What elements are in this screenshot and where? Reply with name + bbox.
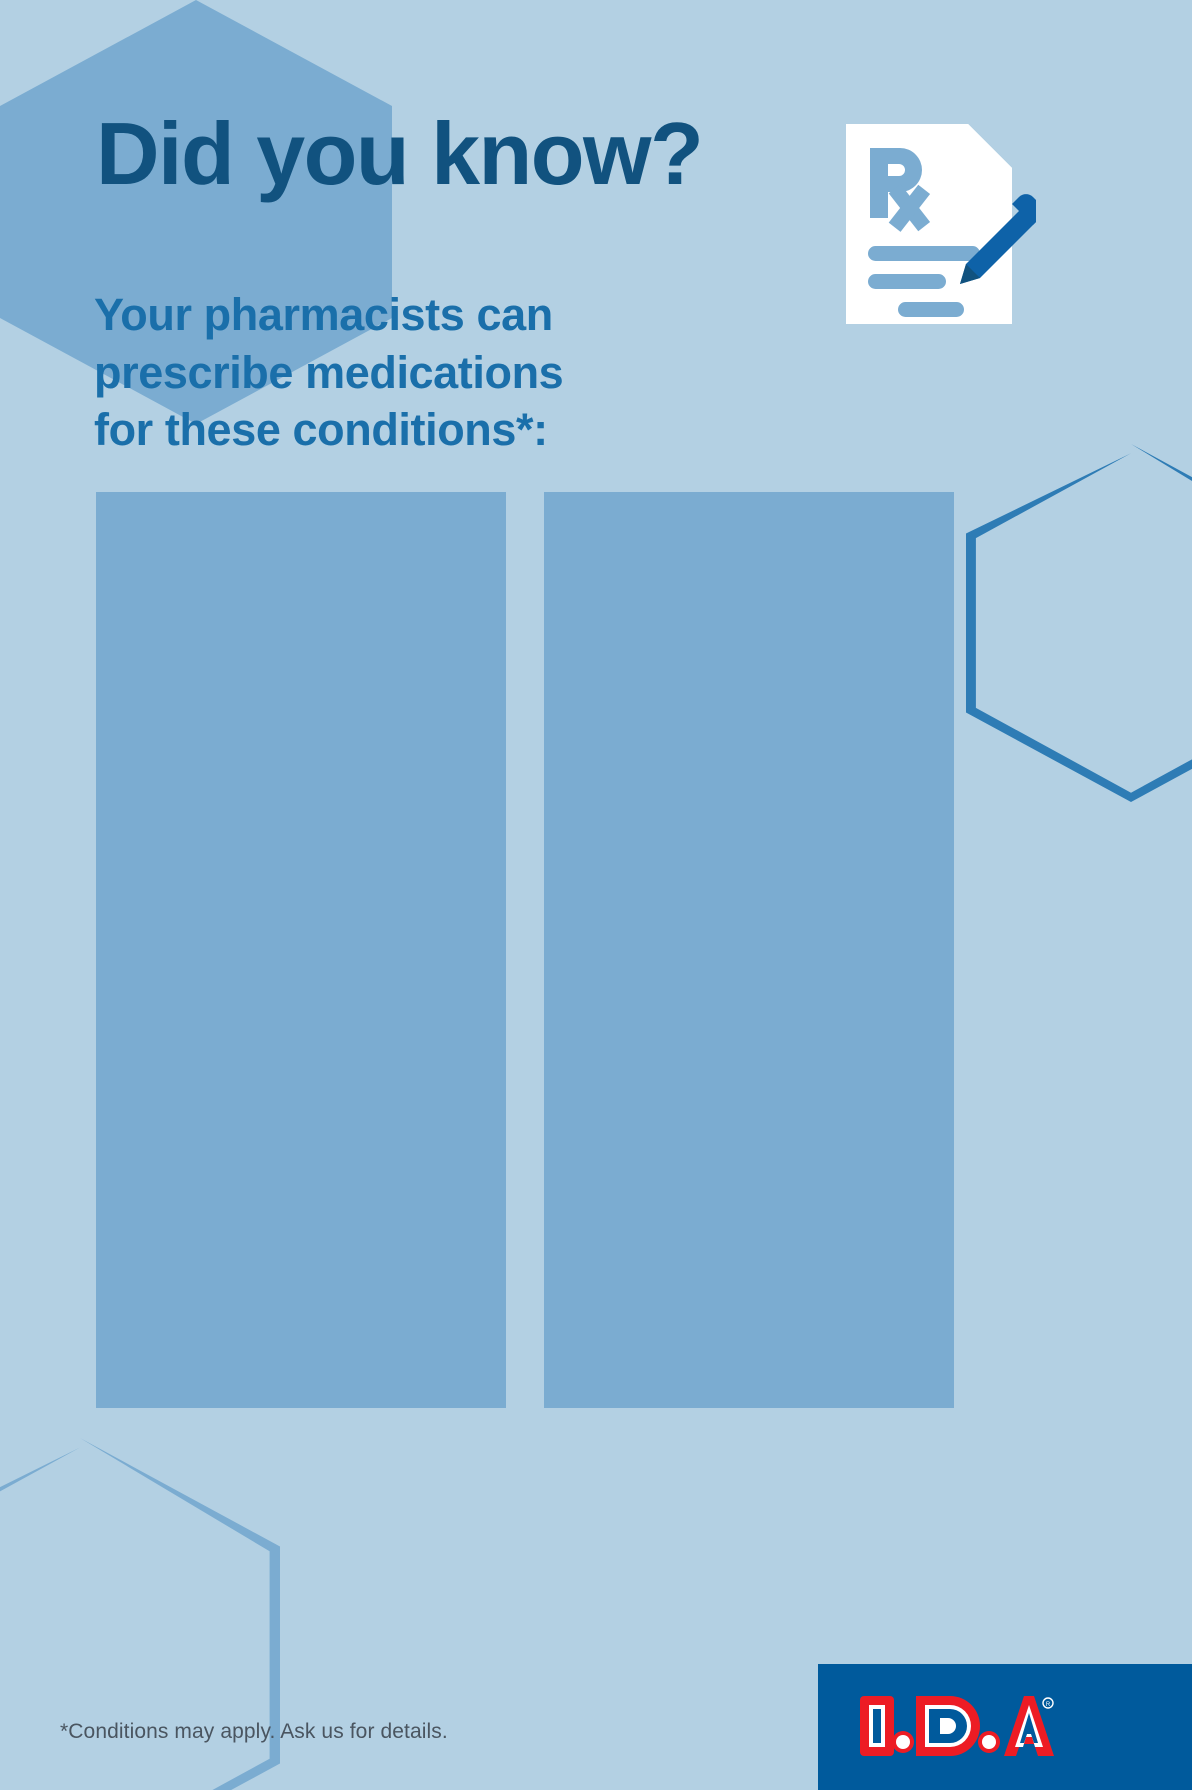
- conditions-column-left: [96, 492, 506, 1408]
- subtitle: Your pharmacists can prescribe medicatio…: [94, 286, 563, 459]
- svg-text:R: R: [1046, 1702, 1051, 1708]
- subtitle-line-1: Your pharmacists can: [94, 286, 563, 344]
- hexagon-outline-right-icon: [966, 444, 1192, 802]
- subtitle-line-3: for these conditions*:: [94, 401, 563, 459]
- poster-canvas: Did you know? Your pharmacists can presc…: [0, 0, 1192, 1790]
- ida-logo-block: R: [818, 1664, 1192, 1790]
- subtitle-line-2: prescribe medications: [94, 344, 563, 402]
- page-title: Did you know?: [96, 110, 702, 198]
- footnote-disclaimer: *Conditions may apply. Ask us for detail…: [60, 1720, 448, 1744]
- conditions-column-right: [544, 492, 954, 1408]
- rx-prescription-document-icon: [840, 118, 1036, 330]
- ida-logo-icon: R: [858, 1694, 1054, 1758]
